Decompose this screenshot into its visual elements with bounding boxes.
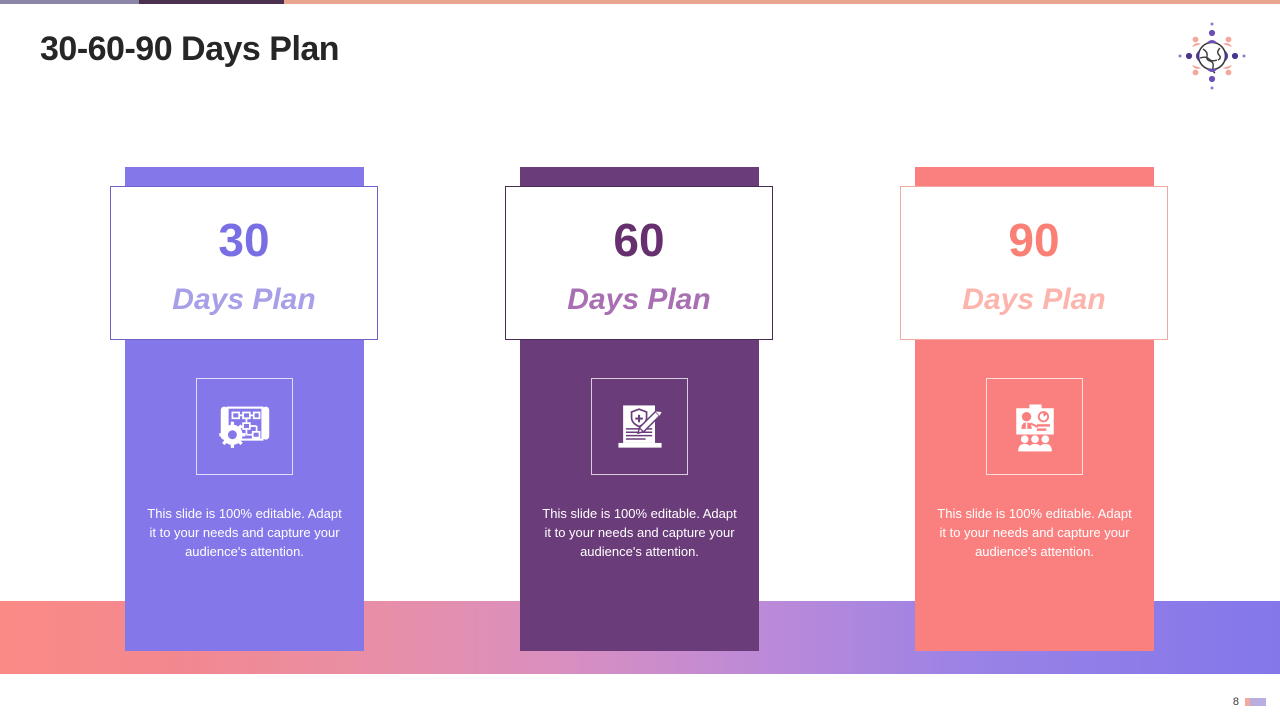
- top-rule-segment-3: [284, 0, 1280, 4]
- plan-body-30: This slide is 100% editable. Adapt it to…: [125, 504, 364, 561]
- plan-subtitle-60: Days Plan: [567, 285, 710, 315]
- footer-bars: [1245, 698, 1266, 706]
- blueprint-gear-icon: [214, 396, 276, 458]
- page-title: 30-60-90 Days Plan: [40, 30, 339, 69]
- plan-body-90: This slide is 100% editable. Adapt it to…: [915, 504, 1154, 561]
- plan-subtitle-90: Days Plan: [962, 285, 1105, 315]
- globe-people-logo: [1176, 20, 1248, 92]
- plan-card-30[interactable]: 30 Days Plan: [110, 186, 378, 340]
- footer-bar-2: [1250, 698, 1266, 706]
- page-number: 8: [1233, 696, 1239, 708]
- plan-subtitle-30: Days Plan: [172, 285, 315, 315]
- top-rule: [0, 0, 1280, 4]
- icon-frame-90: [986, 378, 1083, 475]
- top-rule-segment-2: [139, 0, 284, 4]
- plan-number-30: 30: [218, 217, 269, 263]
- presentation-training-icon: [1005, 397, 1065, 457]
- plan-number-90: 90: [1008, 217, 1059, 263]
- icon-frame-60: [591, 378, 688, 475]
- plan-number-60: 60: [613, 217, 664, 263]
- icon-frame-30: [196, 378, 293, 475]
- footer: 8: [1233, 696, 1266, 708]
- plan-card-60[interactable]: 60 Days Plan: [505, 186, 773, 340]
- plan-body-60: This slide is 100% editable. Adapt it to…: [520, 504, 759, 561]
- document-shield-pencil-icon: [610, 397, 670, 457]
- plan-card-90[interactable]: 90 Days Plan: [900, 186, 1168, 340]
- top-rule-segment-1: [0, 0, 139, 4]
